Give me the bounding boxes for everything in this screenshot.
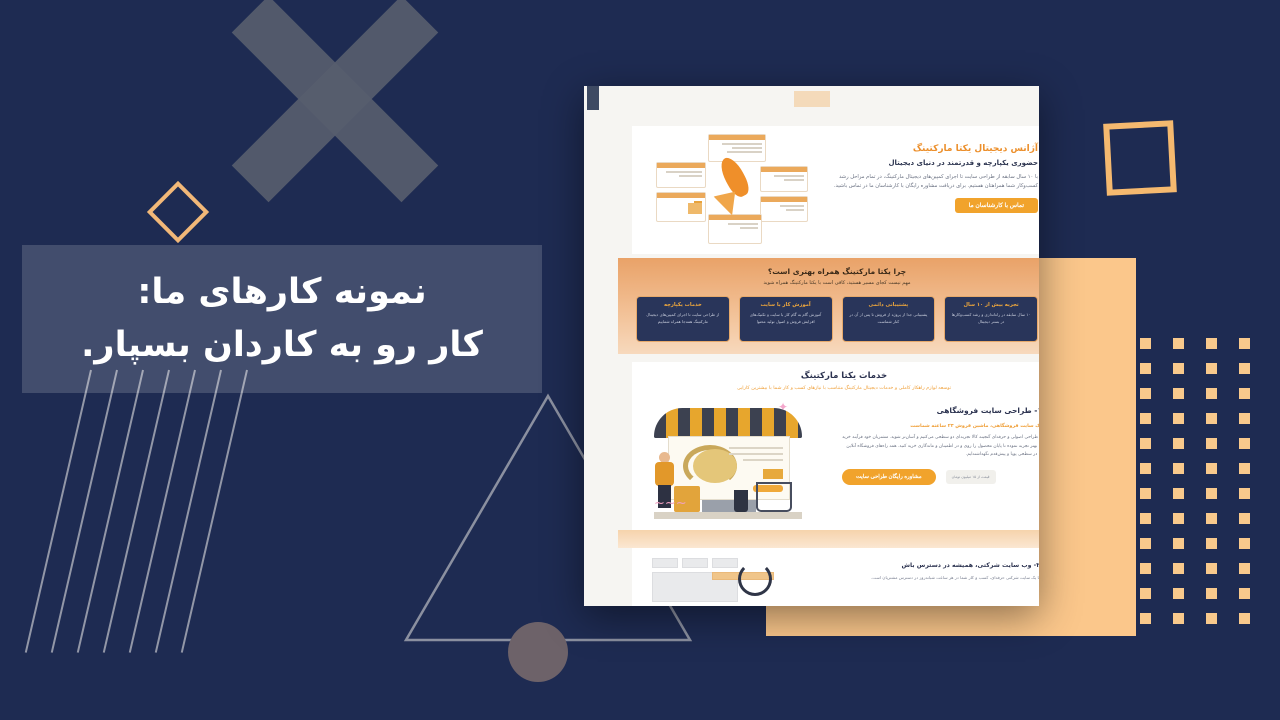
mini-card [708,214,762,244]
plant-icon [734,490,748,512]
service-price-box: قیمت از ۱۵ میلیون تومان [946,470,996,484]
why-us-card-body: آموزش گام به گام کار با سایت و تکنیک‌های… [744,312,828,325]
square-outline-icon [1103,120,1177,196]
service-price-note: قیمت از ۱۵ میلیون تومان [952,474,990,480]
why-us-band: چرا یکتا مارکتینگ همراه بهتری است؟ مهم ن… [618,258,1039,354]
hero-cta-button[interactable]: تماس با کارشناسان ما [955,198,1038,213]
services-title: خدمات یکتا مارکتینگ [632,362,1039,381]
why-us-card-body: از طراحی سایت تا اجرای کمپین‌های دیجیتال… [641,312,725,325]
counter-shape [654,512,802,519]
service-cta-button[interactable]: مشاوره رایگان طراحی سایت [842,469,936,485]
why-us-subtitle: مهم نیست کجای مسیر هستید، کافی است با یک… [618,280,1039,286]
shop-illustration: ✦ [648,400,808,538]
caption-line-1: نمونه کارهای ما: [137,272,426,313]
caption-panel: نمونه کارهای ما: کار رو به کاردان بسپار. [22,245,542,393]
why-us-card-title: تجربه بیش از ۱۰ سال [949,302,1033,308]
mini-card-chart [656,192,706,222]
services-subtitle: توسعه لوازم راهکار کاملی و خدمات دیجیتال… [632,386,1039,391]
slide-canvas: نمونه کارهای ما: کار رو به کاردان بسپار. [0,0,1280,720]
service-heading: ۱- طراحی سایت فروشگاهی [842,406,1039,415]
why-us-card[interactable]: پشتیبانی دائمی پشتیبانی جدا از پروژه از … [842,296,936,342]
site-header [584,86,1039,114]
rocket-icon [711,156,759,218]
why-us-title: چرا یکتا مارکتینگ همراه بهتری است؟ [618,267,1039,276]
service-section-2: ۲- وب سایت شرکتی، همیشه در دسترس باش با … [632,548,1039,606]
mini-card [760,166,808,192]
caption-line-2: کار رو به کاردان بسپار. [81,325,483,366]
hero-subtitle: حضوری یکپارچه و قدرتمند در دنیای دیجیتال [830,159,1038,167]
squiggle-decoration: ~~~ [654,496,687,511]
rocket-illustration [656,134,808,246]
shopping-cart-icon [756,482,792,512]
hero-title: آژانس دیجیتال یکتا مارکتینگ [830,144,1038,154]
services-section: خدمات یکتا مارکتینگ توسعه لوازم راهکار ک… [632,362,1039,540]
service-2-text: ۲- وب سایت شرکتی، همیشه در دسترس باش با … [842,562,1039,582]
why-us-card[interactable]: آموزش کار با سایت آموزش گام به گام کار ب… [739,296,833,342]
why-us-card-list: تجربه بیش از ۱۰ سال ۱۰ سال سابقه در راه‌… [636,296,1038,342]
awning-shape [654,408,802,438]
service-2-heading: ۲- وب سایت شرکتی، همیشه در دسترس باش [842,562,1039,569]
diagonal-lines-pattern [90,380,320,650]
why-us-card-title: آموزش کار با سایت [744,302,828,308]
why-us-card-body: پشتیبانی جدا از پروژه از فروش تا پس از آ… [847,312,931,325]
service-text-block: ۱- طراحی سایت فروشگاهی یک سایت فروشگاهی،… [842,406,1039,485]
why-us-card[interactable]: خدمات یکپارچه از طراحی سایت تا اجرای کمپ… [636,296,730,342]
diamond-outline-icon [147,181,209,243]
mini-card [656,162,706,188]
why-us-card-body: ۱۰ سال سابقه در راه‌اندازی و رشد کسب‌وکا… [949,312,1033,325]
service-kicker: یک سایت فروشگاهی، ماشین فروش ۲۴ ساعته شم… [842,424,1039,429]
why-us-card-title: خدمات یکپارچه [641,302,725,308]
site-logo[interactable] [794,91,830,107]
corporate-site-illustration [652,552,792,604]
hero-body-text: با ۱۰ سال سابقه از طراحی سایت تا اجرای ک… [830,173,1038,191]
hero-section: آژانس دیجیتال یکتا مارکتینگ حضوری یکپارچ… [632,126,1039,254]
service-body: با طراحی اصولی و حرفه‌ای گنجینه کالا تجر… [842,434,1039,460]
circle-shape [508,622,568,682]
why-us-card[interactable]: تجربه بیش از ۱۰ سال ۱۰ سال سابقه در راه‌… [944,296,1038,342]
website-mockup[interactable]: آژانس دیجیتال یکتا مارکتینگ حضوری یکپارچ… [584,86,1039,606]
hero-text-block: آژانس دیجیتال یکتا مارکتینگ حضوری یکپارچ… [830,144,1038,213]
mini-card-globe [760,196,808,222]
side-tab-chip [587,86,599,110]
section-divider-strip [618,530,1039,548]
service-2-body: با یک سایت شرکتی حرفه‌ای، کسب و کار شما … [842,574,1039,582]
x-shape-icon [228,8,442,190]
why-us-card-title: پشتیبانی دائمی [847,302,931,308]
